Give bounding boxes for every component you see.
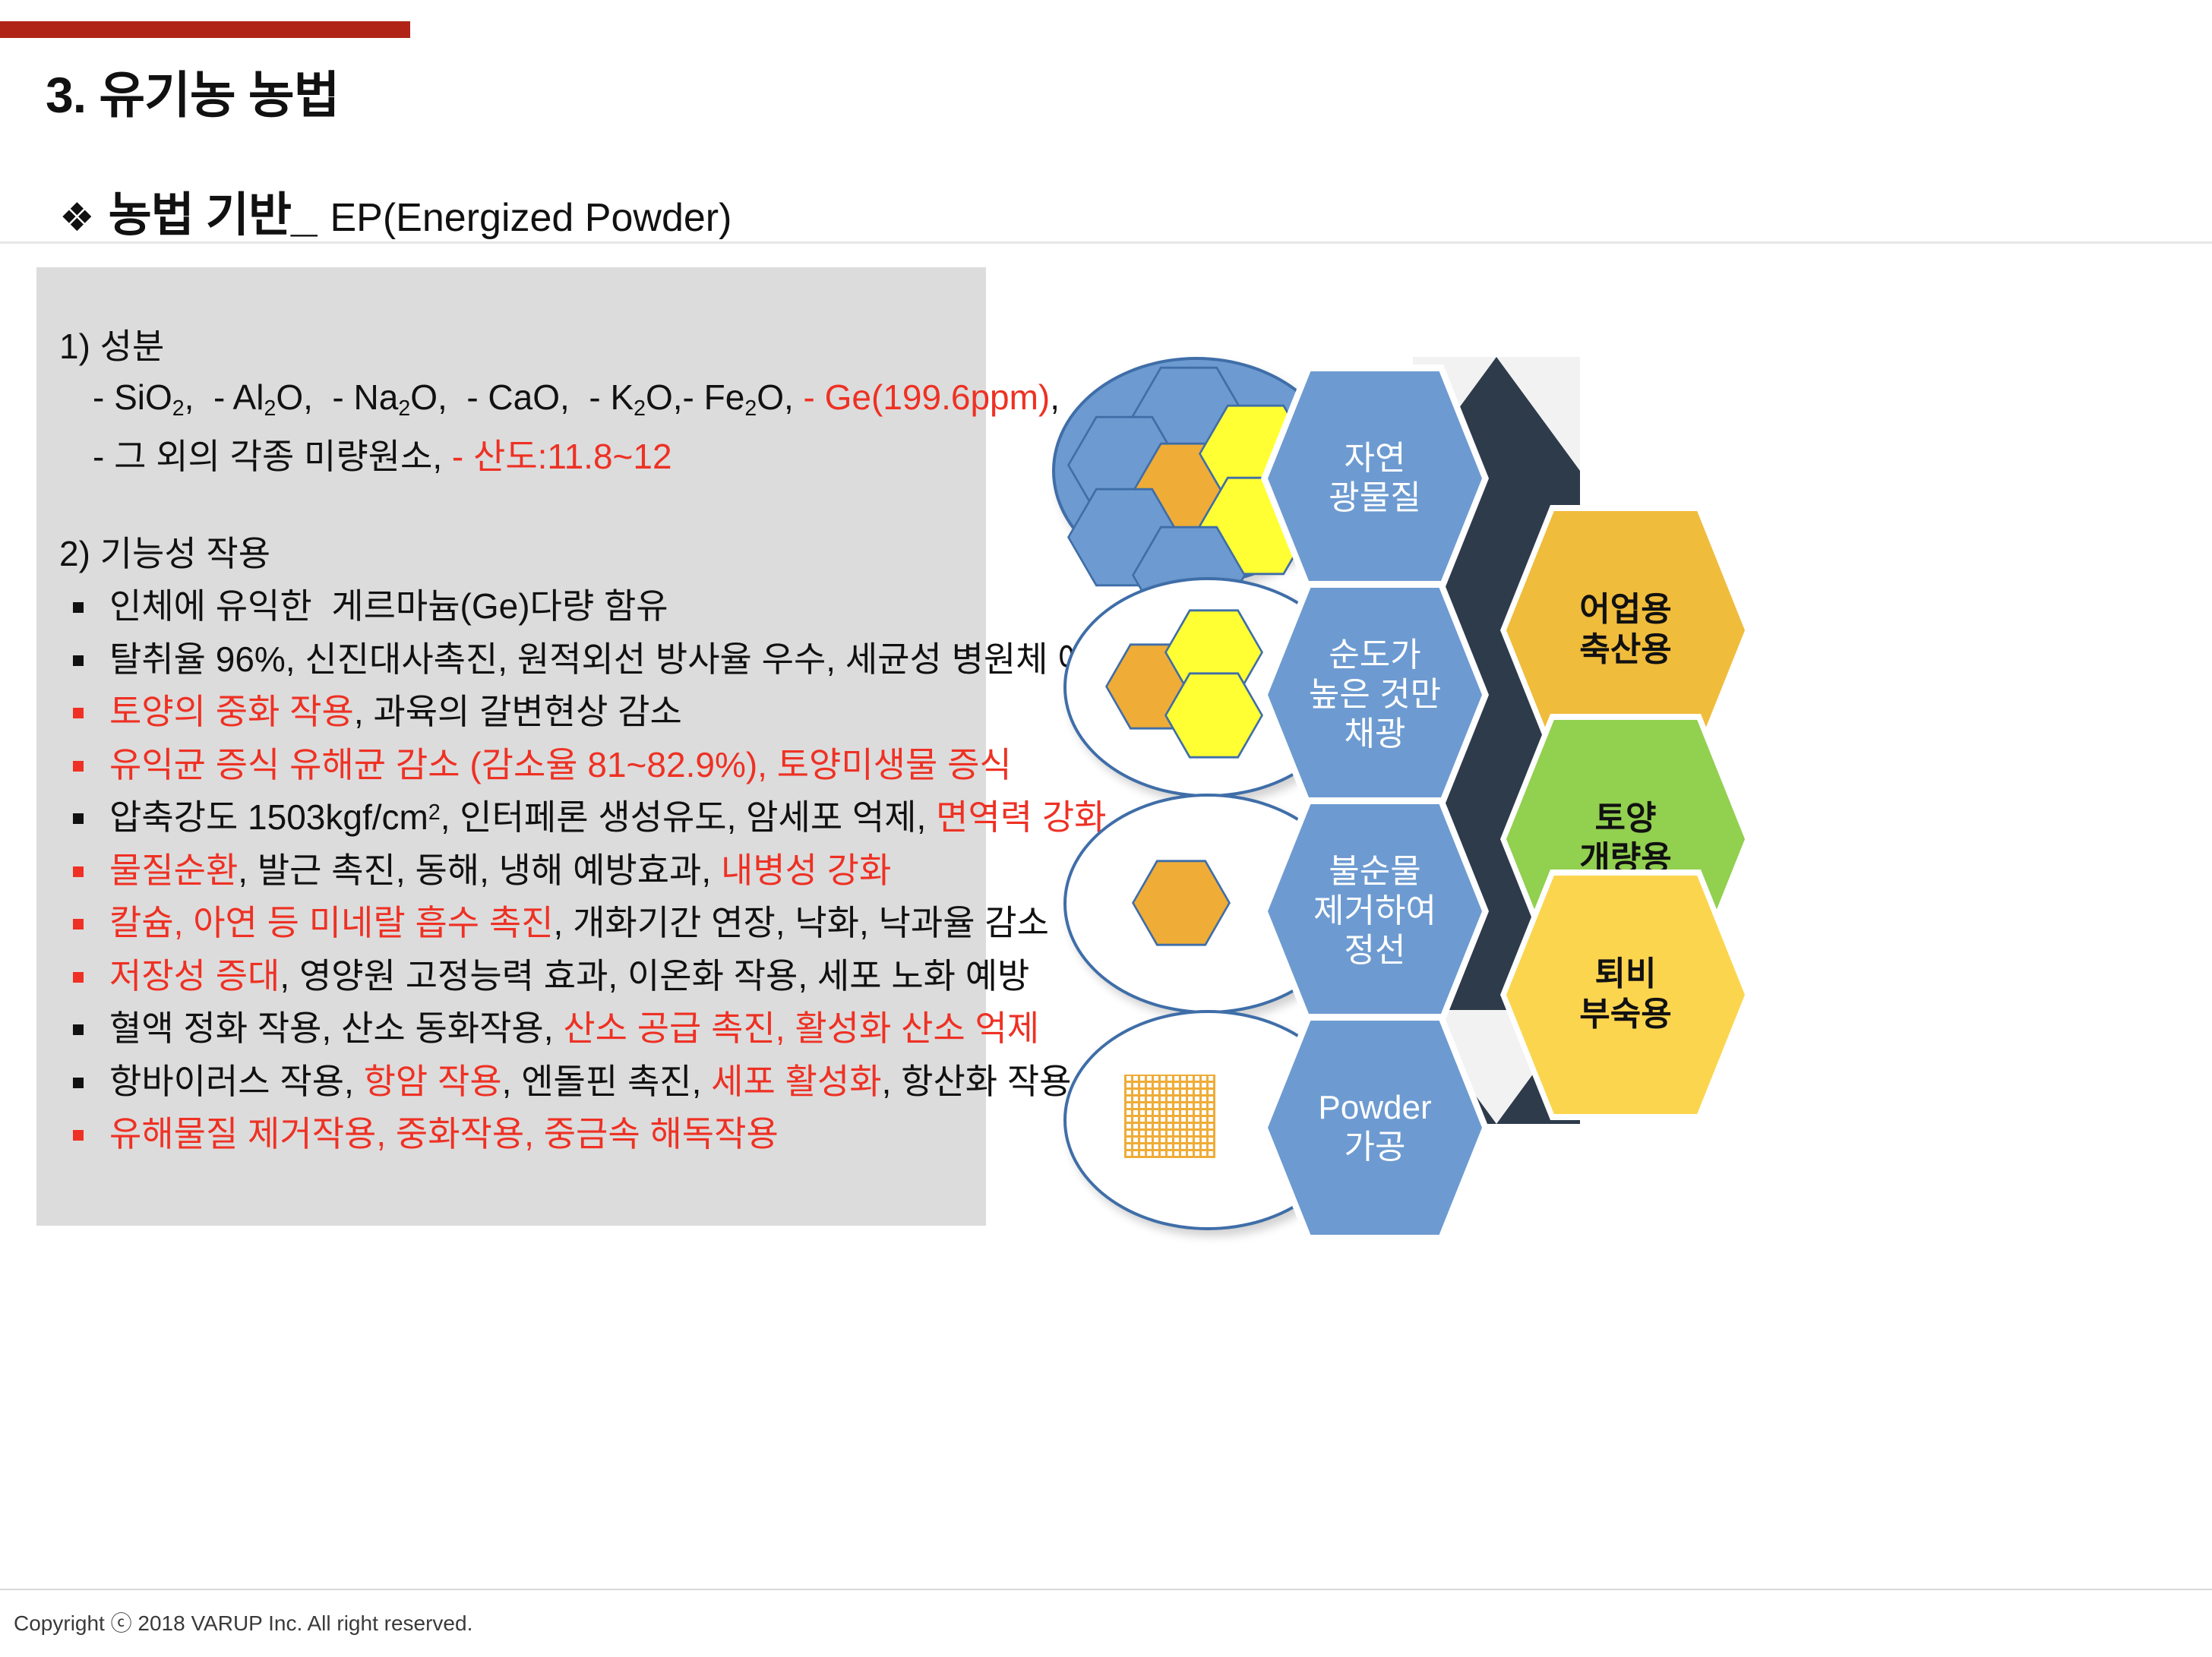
list-item: 유익균 증식 유해균 감소 (감소율 81~82.9%), 토양미생물 증식 [59, 746, 1070, 785]
list-item: 인체에 유익한 게르마늄(Ge)다량 함유 [59, 587, 1070, 627]
list-item: 저장성 증대, 영양원 고정능력 효과, 이온화 작용, 세포 노화 예방 [59, 957, 1070, 996]
copyright-text: Copyright ⓒ 2018 VARUP Inc. All right re… [14, 1607, 472, 1637]
process-step-powder: Powder 가공 [1261, 1014, 1489, 1242]
square-bullet-icon [73, 866, 84, 877]
list-item: 탈취율 96%, 신진대사촉진, 원적외선 방사율 우수, 세균성 병원체 예방… [59, 640, 1070, 680]
list-item: 유해물질 제거작용, 중화작용, 중금속 해독작용 [59, 1115, 1070, 1154]
section-2-heading: 2) 기능성 작용 [59, 526, 1070, 576]
process-step-label: Powder 가공 [1268, 1021, 1482, 1235]
list-item: 항바이러스 작용, 항암 작용, 엔돌핀 촉진, 세포 활성화, 항산화 작용 [59, 1062, 1070, 1102]
title-accent-rule [0, 21, 410, 38]
square-bullet-icon [73, 972, 84, 983]
process-step-label: 불순물 제거하여 정선 [1268, 804, 1482, 1018]
composition-line-1: - SiO2, - Al2O, - Na2O, - CaO, - K2O,- F… [93, 377, 1070, 421]
process-step-natural-mineral: 자연 광물질 [1261, 365, 1489, 592]
powder-grid-pattern [1124, 1075, 1215, 1158]
section-1-heading: 1) 성분 [59, 319, 1070, 369]
square-bullet-icon [73, 602, 84, 613]
composition-line-2: - 그 외의 각종 미량원소, - 산도:11.8~12 [93, 429, 1070, 479]
output-label: 어업용 축산용 [1506, 511, 1745, 750]
process-step-high-purity: 순도가 높은 것만 채광 [1261, 581, 1489, 809]
output-compost-maturation: 퇴비 부숙용 [1500, 870, 1751, 1120]
list-item: 칼슘, 아연 등 미네랄 흡수 촉진, 개화기간 연장, 낙화, 낙과율 감소 [59, 904, 1070, 943]
process-step-impurity-removal: 불순물 제거하여 정선 [1261, 797, 1489, 1025]
square-bullet-icon [73, 708, 84, 718]
square-bullet-icon [73, 1078, 84, 1088]
list-item: 토양의 중화 작용, 과육의 갈변현상 감소 [59, 693, 1070, 732]
ph-value: 산도:11.8~12 [473, 437, 672, 476]
subtitle-row: ❖ 농법 기반_ EP(Energized Powder) [59, 176, 732, 245]
square-bullet-icon [73, 1130, 84, 1141]
process-step-label: 자연 광물질 [1268, 371, 1482, 585]
output-label: 퇴비 부숙용 [1506, 876, 1745, 1114]
square-bullet-icon [73, 761, 84, 772]
process-step-label: 순도가 높은 것만 채광 [1268, 588, 1482, 802]
ge-value: Ge(199.6ppm) [825, 377, 1051, 417]
subtitle-sub: EP(Energized Powder) [330, 195, 732, 241]
diamond-bullet-icon: ❖ [59, 198, 95, 238]
function-list: 인체에 유익한 게르마늄(Ge)다량 함유 탈취율 96%, 신진대사촉진, 원… [59, 587, 1070, 1154]
square-bullet-icon [73, 1024, 84, 1035]
square-bullet-icon [73, 655, 84, 666]
square-bullet-icon [73, 919, 84, 929]
footer-bar: Copyright ⓒ 2018 VARUP Inc. All right re… [0, 1589, 2212, 1657]
subtitle-main: 농법 기반_ [109, 176, 317, 245]
list-item: 혈액 정화 작용, 산소 동화작용, 산소 공급 촉진, 활성화 산소 억제 [59, 1009, 1070, 1049]
list-item: 물질순환, 발근 촉진, 동해, 냉해 예방효과, 내병성 강화 [59, 851, 1070, 891]
content-body: 1) 성분 - SiO2, - Al2O, - Na2O, - CaO, - K… [59, 319, 1070, 1168]
square-bullet-icon [73, 813, 84, 824]
list-item: 압축강도 1503kgf/cm2, 인터페론 생성유도, 암세포 억제, 면역력… [59, 798, 1070, 838]
header-divider [0, 241, 2212, 244]
page-title: 3. 유기농 농법 [46, 55, 339, 128]
